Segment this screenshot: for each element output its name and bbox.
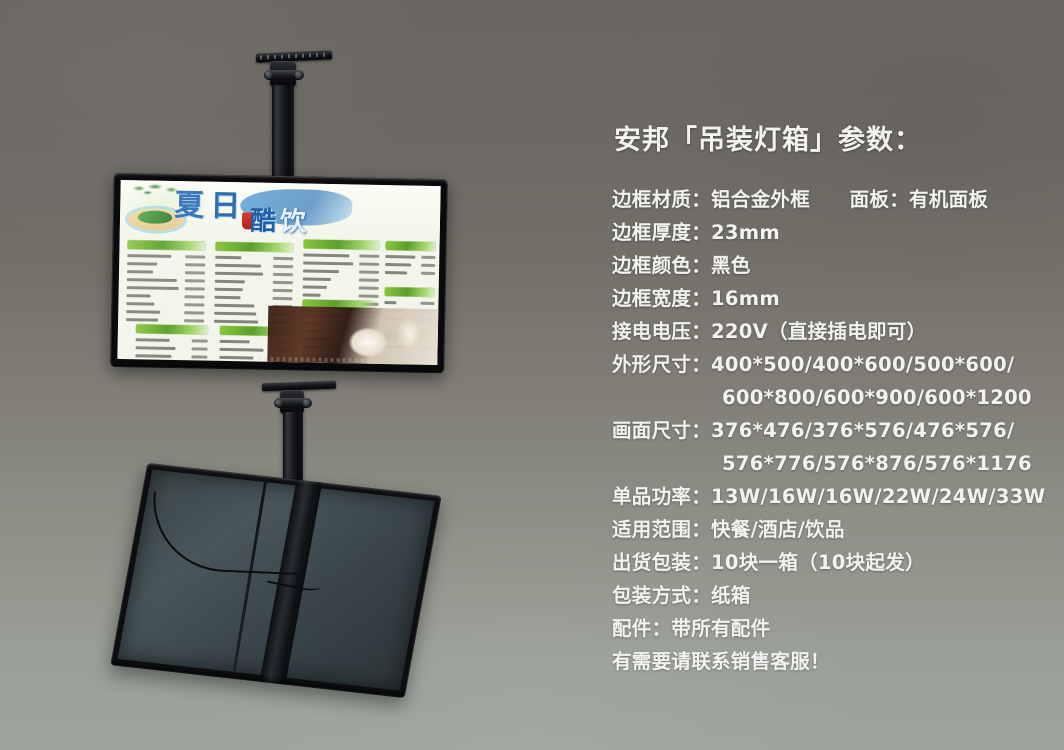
product-photo: 夏 日 酷 饮 bbox=[0, 0, 600, 750]
menu-row bbox=[303, 267, 379, 275]
spec-frame-color: 边框颜色：黑色 bbox=[612, 249, 1052, 282]
spec-application: 适用范围：快餐/酒店/饮品 bbox=[612, 513, 1052, 546]
menu-row bbox=[126, 316, 204, 324]
menu-header: 夏 日 酷 饮 bbox=[120, 180, 441, 244]
spec-outer-size-2: 600*800/600*900/600*1200 bbox=[612, 381, 1052, 414]
menu-row bbox=[127, 260, 205, 268]
menu-row bbox=[303, 251, 379, 259]
spec-frame-material: 边框材质：铝合金外框 面板：有机面板 bbox=[612, 183, 1052, 216]
menu-row bbox=[215, 286, 293, 294]
menu-section-1 bbox=[126, 240, 206, 325]
menu-row bbox=[384, 299, 434, 307]
menu-row bbox=[215, 270, 293, 278]
menu-row bbox=[385, 261, 435, 269]
menu-row bbox=[303, 291, 379, 299]
menu-row bbox=[385, 253, 435, 261]
menu-row bbox=[126, 300, 204, 308]
spec-accessories: 配件：带所有配件 bbox=[612, 612, 1052, 645]
menu-row bbox=[215, 278, 293, 286]
spec-panel: 安邦「吊装灯箱」参数： 边框材质：铝合金外框 面板：有机面板边框厚度：23mm边… bbox=[612, 118, 1052, 678]
menu-title-char-3: 酷 bbox=[250, 208, 277, 234]
spec-pack-method: 包装方式：纸箱 bbox=[612, 579, 1052, 612]
spec-frame-width: 边框宽度：16mm bbox=[612, 282, 1052, 315]
menu-section-header bbox=[385, 287, 435, 297]
screenshot-stage: 夏 日 酷 饮 bbox=[0, 0, 1064, 750]
menu-section-header bbox=[127, 240, 205, 250]
pivot-bolt-mid bbox=[274, 398, 312, 408]
upper-lightbox: 夏 日 酷 饮 bbox=[110, 173, 448, 373]
menu-row bbox=[135, 352, 207, 360]
coffee-beans-photo bbox=[267, 306, 338, 363]
menu-row bbox=[127, 252, 205, 260]
menu-row bbox=[127, 284, 205, 292]
menu-row bbox=[303, 283, 379, 291]
menu-row bbox=[127, 276, 205, 284]
spec-voltage: 接电电压：220V（直接插电即可） bbox=[612, 315, 1052, 348]
spec-title: 安邦「吊装灯箱」参数： bbox=[614, 118, 1052, 157]
spec-line-list: 边框材质：铝合金外框 面板：有机面板边框厚度：23mm边框颜色：黑色边框宽度：1… bbox=[612, 183, 1052, 678]
menu-section-8 bbox=[135, 324, 208, 365]
menu-row bbox=[215, 262, 293, 270]
menu-body bbox=[117, 236, 439, 365]
menu-row bbox=[214, 294, 292, 302]
mount-pole-top bbox=[272, 85, 294, 181]
menu-section-header bbox=[215, 242, 293, 252]
menu-row bbox=[127, 268, 205, 276]
menu-title-char-4: 饮 bbox=[280, 209, 307, 235]
spec-frame-thickness: 边框厚度：23mm bbox=[612, 216, 1052, 249]
spec-picture-size-2: 576*776/576*876/576*1176 bbox=[612, 447, 1052, 480]
pivot-bolt-top bbox=[264, 70, 304, 80]
spec-shipping-pack: 出货包装：10块一箱（10块起发） bbox=[612, 546, 1052, 579]
spec-contact: 有需要请联系销售客服！ bbox=[612, 645, 1052, 678]
menu-row bbox=[136, 336, 208, 344]
lower-lightbox-back bbox=[110, 463, 441, 698]
menu-title-art: 夏 日 酷 饮 bbox=[166, 185, 357, 241]
menu-row bbox=[303, 259, 379, 267]
menu-section-header bbox=[136, 324, 208, 334]
menu-row bbox=[215, 254, 293, 262]
spec-power: 单品功率：13W/16W/16W/22W/24W/33W bbox=[612, 480, 1052, 513]
spec-outer-size: 外形尺寸：400*500/400*600/500*600/ bbox=[612, 348, 1052, 381]
menu-row bbox=[303, 275, 379, 283]
spec-picture-size: 画面尺寸：376*476/376*576/476*576/ bbox=[612, 414, 1052, 447]
lightbox-menu-screen: 夏 日 酷 饮 bbox=[117, 180, 440, 365]
menu-row bbox=[385, 269, 435, 277]
menu-row bbox=[126, 308, 204, 316]
menu-section-4 bbox=[385, 241, 436, 278]
menu-row bbox=[135, 360, 207, 365]
menu-title-char-1: 夏 bbox=[174, 191, 205, 222]
menu-title-char-2: 日 bbox=[210, 192, 241, 223]
menu-row bbox=[219, 362, 291, 365]
menu-row bbox=[126, 292, 204, 300]
menu-section-header bbox=[385, 241, 435, 251]
menu-row bbox=[135, 344, 207, 352]
menu-section-header bbox=[303, 239, 379, 249]
